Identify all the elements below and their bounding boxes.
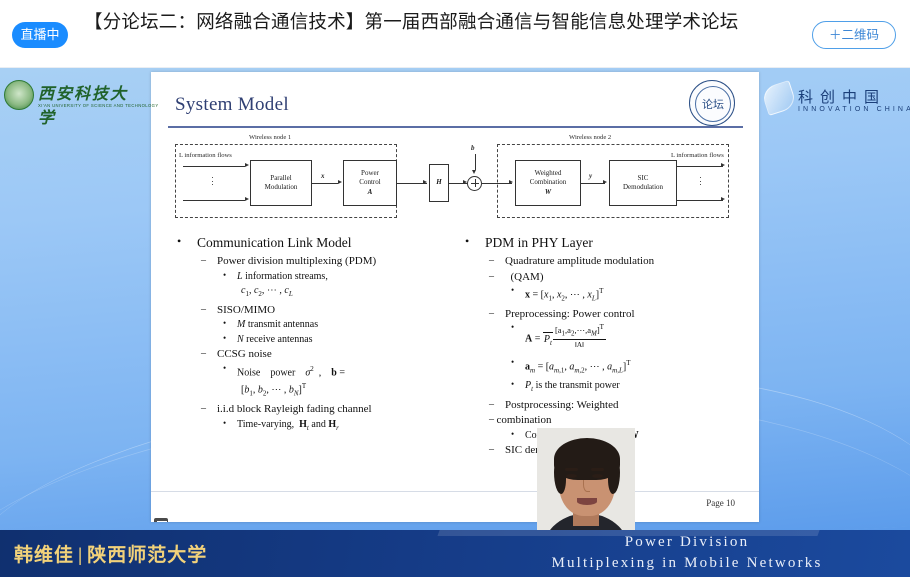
weighted-combination-label: WeightedCombinationW [530, 169, 567, 198]
bullet-noise-vector: [b1, b2, ⋯ , bN]T [171, 380, 459, 401]
pc-to-h-arrow [423, 180, 427, 184]
webcam-speaker-eye-left [566, 474, 577, 478]
more-icon[interactable] [246, 519, 258, 522]
university-seal-icon [4, 80, 34, 110]
bullet-preprocessing: Preprocessing: Power control [459, 307, 749, 322]
speaker-info: 韩维佳|陕西师范大学 [14, 540, 207, 567]
bottom-bar: 韩维佳|陕西师范大学 Power Division Multiplexing i… [0, 530, 910, 577]
talk-title-line-1: Power Division [472, 532, 902, 553]
university-name-en: XI'AN UNIVERSITY OF SCIENCE AND TECHNOLO… [38, 103, 159, 108]
slide-divider [168, 126, 743, 128]
channel-label: H [436, 178, 441, 188]
bullet-qam-cont: –(QAM) [459, 270, 749, 285]
input-arrow-top [245, 163, 249, 167]
innovation-china-brand-en: INNOVATION CHINA [798, 106, 910, 113]
webcam-speaker-nose [583, 480, 590, 492]
qr-code-button[interactable]: ＋二维码 [812, 21, 896, 49]
output-arrow-top [721, 163, 725, 167]
noise-input-arrow [472, 170, 476, 174]
bullet-postprocessing: Postprocessing: Weighted [459, 398, 749, 413]
bullet-receive-antennas: N receive antennas [171, 333, 459, 347]
forum-seal-icon: 论坛 [689, 80, 735, 126]
slide-view-icon[interactable] [154, 518, 168, 522]
innovation-china-brand-cn: 科创中国 [798, 86, 886, 107]
presentation-slide: System Model 论坛 Wireless node 1 Wireless… [151, 72, 759, 522]
webcam-speaker-brow-left [565, 468, 578, 471]
webcam-speaker-eye-right [592, 474, 603, 478]
power-control-label: PowerControlA [359, 169, 380, 198]
right-content-column: PDM in PHY Layer Quadrature amplitude mo… [459, 234, 749, 459]
pen-icon[interactable] [192, 519, 204, 522]
wireless-node-2-label: Wireless node 2 [569, 134, 611, 141]
live-status-badge: 直播中 [12, 22, 68, 48]
webcam-speaker-brow-right [591, 468, 604, 471]
bullet-x-vector: x = [x1, x2, ⋯ , xL]T [459, 285, 749, 306]
sic-demodulation-label: SICDemodulation [623, 174, 663, 193]
wireless-node-1-label: Wireless node 1 [249, 134, 291, 141]
left-content-column: Communication Link Model Power division … [171, 234, 459, 436]
bullet-siso-mimo: SISO/MIMO [171, 303, 459, 318]
talk-title: Power Division Multiplexing in Mobile Ne… [472, 532, 902, 574]
y-signal-arrow [603, 180, 607, 184]
x-signal-label: x [321, 172, 325, 180]
input-line-bottom [183, 200, 245, 201]
bullet-transmit-antennas: M transmit antennas [171, 318, 459, 332]
parallel-modulation-label: ParallelModulation [265, 174, 298, 193]
power-control-block: PowerControlA [343, 160, 397, 206]
x-signal-arrow [338, 180, 342, 184]
input-line-top [183, 166, 245, 167]
video-stage[interactable]: 科创中国 INNOVATION CHINA System Model 论坛 Wi… [0, 68, 910, 530]
system-model-block-diagram: Wireless node 1 Wireless node 2 L inform… [171, 130, 739, 230]
bullet-pdm: Power division multiplexing (PDM) [171, 254, 459, 269]
forum-seal-label: 论坛 [690, 96, 736, 112]
bullet-pt-definition: Pt is the transmit power [459, 379, 749, 397]
sic-demodulation-block: SICDemodulation [609, 160, 677, 206]
left-heading: Communication Link Model [171, 234, 459, 251]
y-signal-label: y [589, 172, 592, 180]
weighted-combination-block: WeightedCombinationW [515, 160, 581, 206]
slide-page-number: Page 10 [706, 498, 735, 508]
bullet-ccsg-noise: CCSG noise [171, 347, 459, 362]
noise-input-line [475, 154, 476, 170]
bullet-a-vector: am = [am,1, am,2, ⋯ , am,L]T [459, 357, 749, 378]
play-icon[interactable] [174, 519, 186, 522]
sum-to-wc-line [482, 183, 512, 184]
output-arrow-bottom [721, 197, 725, 201]
webcam-speaker-mouth [577, 498, 597, 505]
university-logo: 西安科技大学 XI'AN UNIVERSITY OF SCIENCE AND T… [2, 78, 144, 120]
input-vertical-dots: ··· [211, 176, 214, 187]
y-signal-line [581, 183, 605, 184]
noise-signal-label: b [471, 144, 475, 152]
bullet-info-streams-values: c1, c2, ⋯ , cL [171, 284, 459, 302]
bullet-rayleigh: i.i.d block Rayleigh fading channel [171, 402, 459, 417]
speaker-name: 韩维佳 [14, 545, 74, 566]
speaker-webcam-overlay[interactable] [537, 428, 635, 530]
talk-title-line-2: Multiplexing in Mobile Networks [472, 553, 902, 574]
innovation-china-brand: 科创中国 INNOVATION CHINA [760, 82, 910, 130]
slide-footer-divider [151, 491, 759, 492]
page-title: 【分论坛二：网络融合通信技术】第一届西部融合通信与智能信息处理学术论坛 [84, 8, 744, 35]
right-heading: PDM in PHY Layer [459, 234, 749, 251]
bullet-time-varying: Time-varying, Ht and Hr [171, 418, 459, 436]
sum-to-wc-arrow [509, 180, 513, 184]
innovation-china-mark-icon [760, 80, 797, 116]
output-line-bottom [677, 200, 723, 201]
bullet-postprocessing-cont: –combination [459, 413, 749, 428]
channel-block: H [429, 164, 449, 202]
output-vertical-dots: ··· [699, 176, 702, 187]
webcam-speaker-hair-left [554, 458, 566, 494]
output-flows-label: L information flows [671, 152, 724, 159]
bullet-a-matrix: A = Pt[a1,a2,⋯,aM]T‖A‖ [459, 322, 749, 350]
input-flows-label: L information flows [179, 152, 232, 159]
trash-icon[interactable] [210, 519, 222, 522]
bullet-noise-power: Noise power σ2 , b = [171, 363, 459, 380]
slide-title: System Model [175, 94, 289, 116]
top-bar: 直播中 【分论坛二：网络融合通信技术】第一届西部融合通信与智能信息处理学术论坛 … [0, 0, 910, 68]
x-signal-line [312, 183, 338, 184]
speaker-affiliation: 陕西师范大学 [87, 545, 207, 566]
bullet-info-streams: L information streams, [171, 270, 459, 284]
speaker-separator: | [78, 545, 83, 567]
input-arrow-bottom [245, 197, 249, 201]
output-line-top [677, 166, 723, 167]
slide-toolbar[interactable] [151, 516, 276, 522]
slide-header: System Model 论坛 [151, 72, 759, 134]
bullet-qam: Quadrature amplitude modulation [459, 254, 749, 269]
summation-node-icon [467, 176, 482, 191]
slide-body-content: Communication Link Model Power division … [163, 234, 747, 504]
parallel-modulation-block: ParallelModulation [250, 160, 312, 206]
note-icon[interactable] [228, 519, 240, 522]
